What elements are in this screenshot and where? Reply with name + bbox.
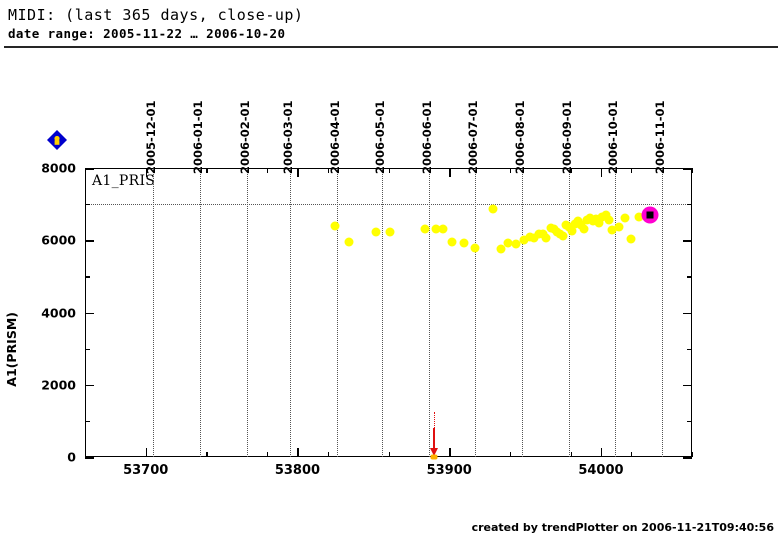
x-tick-minor-top <box>692 168 693 173</box>
x-tick-minor-top <box>389 168 390 173</box>
x-tick-major-top <box>297 168 299 177</box>
x-tick-minor-top <box>510 168 511 173</box>
vertical-gridline <box>522 168 523 457</box>
top-date-label: 2006-10-01 <box>606 100 620 174</box>
data-point <box>621 213 630 222</box>
x-tick-minor-top <box>267 168 268 173</box>
data-point <box>615 222 624 231</box>
reference-line <box>85 204 692 205</box>
data-point <box>627 234 636 243</box>
arrow-shaft <box>433 428 435 450</box>
x-tick-minor <box>571 452 572 457</box>
y-tick-minor <box>85 276 90 277</box>
top-date-label: 2006-07-01 <box>466 100 480 174</box>
data-point <box>448 238 457 247</box>
x-tick-minor-top <box>206 168 207 173</box>
top-date-label: 2006-04-01 <box>328 100 342 174</box>
data-point <box>470 243 479 252</box>
x-tick-minor <box>692 452 693 457</box>
y-tick-major <box>85 168 94 170</box>
page-title: MIDI: (last 365 days, close-up) <box>8 6 303 24</box>
y-axis-title: A1(PRISM) <box>4 312 19 387</box>
x-tick-minor <box>389 452 390 457</box>
x-tick-major <box>146 448 148 457</box>
y-tick-label: 2000 <box>20 377 76 392</box>
data-point <box>460 238 469 247</box>
blue-diamond-icon[interactable] <box>46 129 68 151</box>
top-date-label: 2006-06-01 <box>420 100 434 174</box>
top-date-label: 2006-02-01 <box>238 100 252 174</box>
y-tick-major-right <box>683 313 692 315</box>
data-point <box>386 227 395 236</box>
x-tick-label: 53900 <box>427 463 472 478</box>
highlighted-data-point[interactable] <box>641 206 658 223</box>
y-tick-major <box>85 240 94 242</box>
y-tick-major-right <box>683 240 692 242</box>
top-date-label: 2006-11-01 <box>653 100 667 174</box>
top-date-label: 2006-01-01 <box>191 100 205 174</box>
data-point <box>439 225 448 234</box>
y-tick-major-right <box>683 457 692 459</box>
x-tick-major <box>449 448 451 457</box>
x-tick-minor <box>328 452 329 457</box>
x-tick-minor <box>267 452 268 457</box>
vertical-gridline <box>382 168 383 457</box>
data-point <box>372 227 381 236</box>
y-tick-major-right <box>683 385 692 387</box>
y-tick-label: 4000 <box>20 305 76 320</box>
y-tick-minor-right <box>687 204 692 205</box>
x-tick-label: 53800 <box>275 463 320 478</box>
arrow-dotted-stem <box>434 412 435 428</box>
x-tick-major <box>297 448 299 457</box>
x-tick-major <box>601 448 603 457</box>
y-tick-minor <box>85 421 90 422</box>
data-point <box>580 225 589 234</box>
header-divider <box>4 46 778 48</box>
top-date-label: 2006-08-01 <box>513 100 527 174</box>
x-tick-minor <box>206 452 207 457</box>
x-tick-minor <box>631 452 632 457</box>
top-date-label: 2006-09-01 <box>560 100 574 174</box>
y-tick-major-right <box>683 168 692 170</box>
footer-credit: created by trendPlotter on 2006-11-21T09… <box>472 521 774 534</box>
y-tick-minor <box>85 349 90 350</box>
x-tick-major-top <box>601 168 603 177</box>
vertical-gridline <box>475 168 476 457</box>
y-tick-minor-right <box>687 349 692 350</box>
top-date-label: 2006-05-01 <box>373 100 387 174</box>
x-tick-minor-top <box>631 168 632 173</box>
annotation-point <box>431 455 438 460</box>
y-tick-major <box>85 385 94 387</box>
y-tick-label: 8000 <box>20 161 76 176</box>
top-date-label: 2005-12-01 <box>144 100 158 174</box>
data-point <box>542 234 551 243</box>
y-tick-major <box>85 457 94 459</box>
y-tick-minor-right <box>687 276 692 277</box>
x-tick-label: 53700 <box>123 463 168 478</box>
vertical-gridline <box>247 168 248 457</box>
vertical-gridline <box>615 168 616 457</box>
vertical-gridline <box>337 168 338 457</box>
vertical-gridline <box>200 168 201 457</box>
vertical-gridline <box>153 168 154 457</box>
x-tick-label: 54000 <box>578 463 623 478</box>
data-point <box>559 231 568 240</box>
top-date-label: 2006-03-01 <box>281 100 295 174</box>
vertical-gridline <box>569 168 570 457</box>
data-point <box>331 222 340 231</box>
y-tick-label: 6000 <box>20 233 76 248</box>
y-tick-major <box>85 313 94 315</box>
vertical-gridline <box>290 168 291 457</box>
y-tick-minor-right <box>687 421 692 422</box>
data-point <box>604 216 613 225</box>
data-point <box>496 244 505 253</box>
data-point <box>420 225 429 234</box>
date-range-subtitle: date range: 2005-11-22 … 2006-10-20 <box>8 26 285 41</box>
x-tick-major-top <box>449 168 451 177</box>
vertical-gridline <box>662 168 663 457</box>
plot-page: MIDI: (last 365 days, close-up) date ran… <box>0 0 782 542</box>
data-point <box>489 205 498 214</box>
y-tick-label: 0 <box>20 450 76 465</box>
x-tick-minor <box>510 452 511 457</box>
y-tick-minor <box>85 204 90 205</box>
data-point <box>345 237 354 246</box>
vertical-gridline <box>429 168 430 457</box>
